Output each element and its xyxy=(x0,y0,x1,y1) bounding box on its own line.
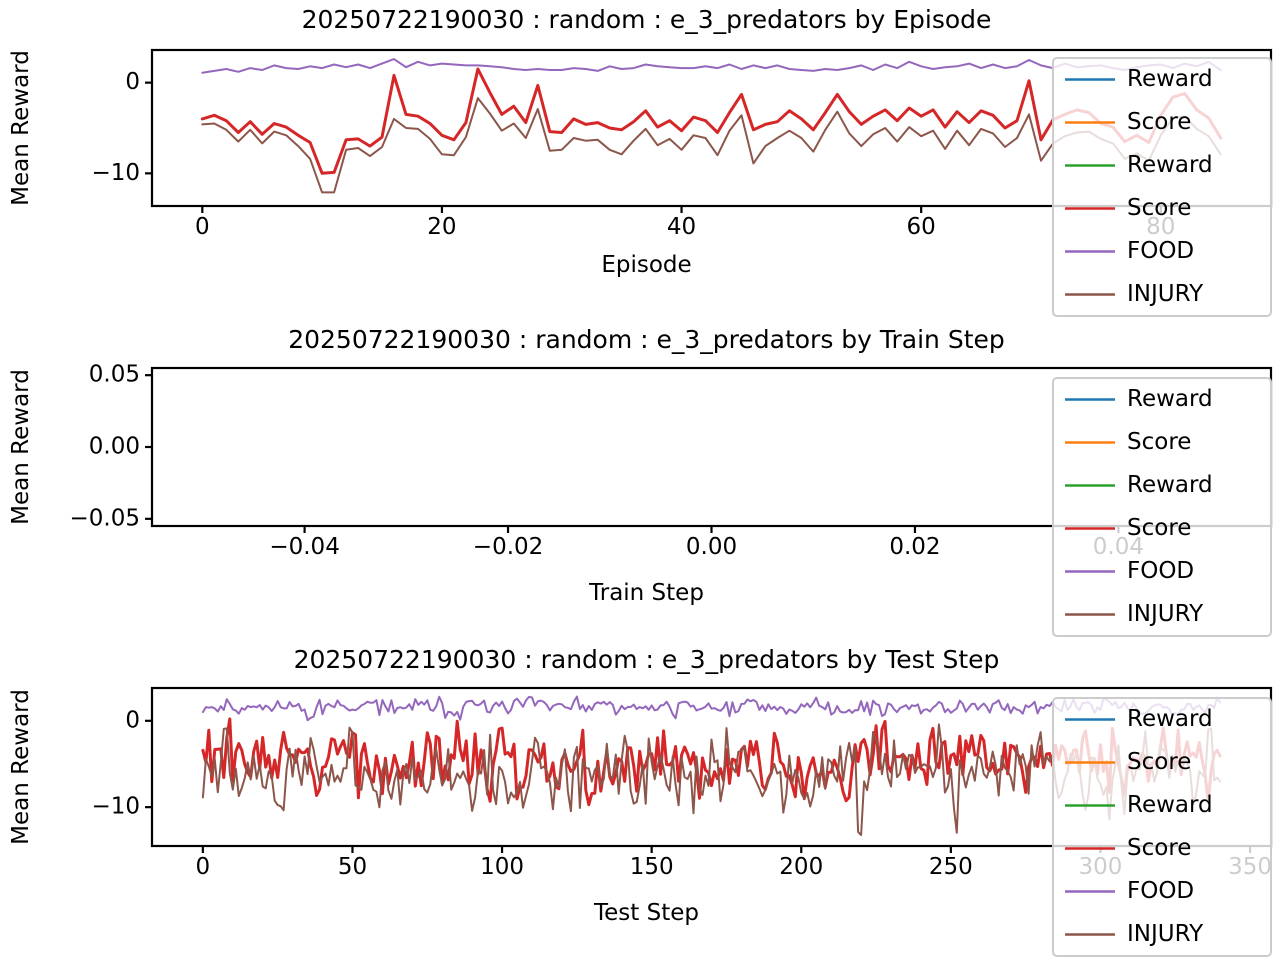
legend-label-reward-0: Reward xyxy=(1127,706,1213,732)
legend-label-score-1: Score xyxy=(1127,749,1191,775)
x-tick-label: 150 xyxy=(630,854,674,880)
legend-label-reward-2: Reward xyxy=(1127,792,1213,818)
chart-panel-by-episode: 20250722190030 : random : e_3_predators … xyxy=(0,0,1280,320)
y-tick-label: 0 xyxy=(125,707,140,733)
legend-label-score-1: Score xyxy=(1127,429,1191,455)
chart-panel-by-test-step: 20250722190030 : random : e_3_predators … xyxy=(0,640,1280,960)
chart-legend[interactable]: RewardScoreRewardScoreFOODINJURY xyxy=(1053,378,1271,636)
chart-svg-by-train-step: 20250722190030 : random : e_3_predators … xyxy=(0,320,1280,640)
x-tick-label: 0 xyxy=(196,854,211,880)
chart-title: 20250722190030 : random : e_3_predators … xyxy=(302,5,992,34)
x-tick-label: 50 xyxy=(338,854,367,880)
legend-frame xyxy=(1053,58,1271,316)
chart-panel-by-train-step: 20250722190030 : random : e_3_predators … xyxy=(0,320,1280,640)
legend-frame xyxy=(1053,698,1271,956)
legend-label-reward-0: Reward xyxy=(1127,386,1213,412)
y-tick-label: 0.00 xyxy=(89,434,140,460)
legend-label-food-4: FOOD xyxy=(1127,238,1194,264)
x-tick-label: 200 xyxy=(779,854,823,880)
y-axis-label: Mean Reward xyxy=(8,50,34,206)
x-tick-label: 20 xyxy=(427,214,456,240)
x-tick-label: 0.02 xyxy=(889,534,940,560)
x-tick-label: 0 xyxy=(195,214,210,240)
x-axis-label: Test Step xyxy=(593,900,699,926)
legend-label-score-1: Score xyxy=(1127,109,1191,135)
legend-label-score-3: Score xyxy=(1127,195,1191,221)
legend-label-reward-0: Reward xyxy=(1127,66,1213,92)
legend-label-reward-2: Reward xyxy=(1127,472,1213,498)
x-axis-label: Episode xyxy=(601,252,691,278)
legend-label-injury-5: INJURY xyxy=(1127,921,1204,947)
chart-legend[interactable]: RewardScoreRewardScoreFOODINJURY xyxy=(1053,58,1271,316)
legend-label-reward-2: Reward xyxy=(1127,152,1213,178)
x-tick-label: 0.00 xyxy=(686,534,737,560)
x-tick-label: 40 xyxy=(667,214,696,240)
x-tick-label: 60 xyxy=(907,214,936,240)
matplotlib-figure: 20250722190030 : random : e_3_predators … xyxy=(0,0,1280,960)
legend-label-food-4: FOOD xyxy=(1127,878,1194,904)
x-tick-label: −0.02 xyxy=(473,534,543,560)
legend-label-score-3: Score xyxy=(1127,515,1191,541)
legend-label-injury-5: INJURY xyxy=(1127,281,1204,307)
legend-label-score-3: Score xyxy=(1127,835,1191,861)
legend-label-food-4: FOOD xyxy=(1127,558,1194,584)
x-axis-label: Train Step xyxy=(588,580,704,606)
chart-legend[interactable]: RewardScoreRewardScoreFOODINJURY xyxy=(1053,698,1271,956)
y-tick-label: 0 xyxy=(125,69,140,95)
legend-frame xyxy=(1053,378,1271,636)
chart-svg-by-test-step: 20250722190030 : random : e_3_predators … xyxy=(0,640,1280,960)
legend-label-injury-5: INJURY xyxy=(1127,601,1204,627)
y-tick-label: 0.05 xyxy=(89,362,140,388)
chart-svg-by-episode: 20250722190030 : random : e_3_predators … xyxy=(0,0,1280,320)
x-tick-label: 100 xyxy=(480,854,524,880)
y-tick-label: −10 xyxy=(91,160,140,186)
chart-title: 20250722190030 : random : e_3_predators … xyxy=(294,645,1000,674)
y-tick-label: −0.05 xyxy=(70,505,140,531)
y-tick-label: −10 xyxy=(91,794,140,820)
y-axis-label: Mean Reward xyxy=(8,689,34,845)
x-tick-label: −0.04 xyxy=(269,534,339,560)
chart-title: 20250722190030 : random : e_3_predators … xyxy=(288,325,1005,354)
y-axis-label: Mean Reward xyxy=(8,369,34,525)
x-tick-label: 250 xyxy=(929,854,973,880)
